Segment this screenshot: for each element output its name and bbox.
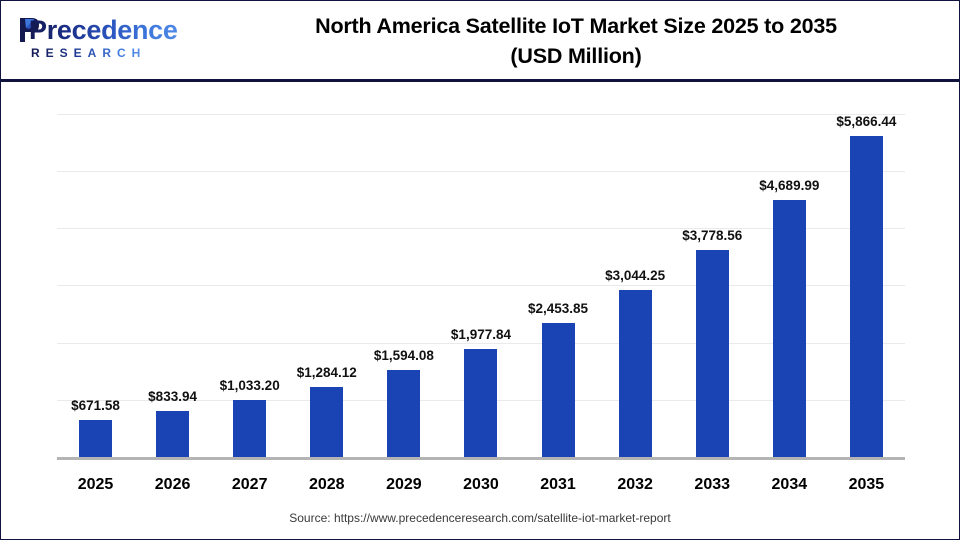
bar[interactable] <box>464 349 497 457</box>
bar-slot: $3,044.25 <box>597 101 674 457</box>
bar[interactable] <box>79 420 112 457</box>
bar-slot: $671.58 <box>57 101 134 457</box>
x-axis-label: 2033 <box>674 476 751 494</box>
bar-value-label: $3,778.56 <box>669 228 756 243</box>
x-axis-label: 2035 <box>828 476 905 494</box>
chart-page: Precedence RESEARCH North America Satell… <box>0 0 960 540</box>
x-axis-label: 2030 <box>442 476 519 494</box>
bar[interactable] <box>387 370 420 457</box>
plot-area: $671.58$833.94$1,033.20$1,284.12$1,594.0… <box>57 101 905 457</box>
bar[interactable] <box>233 400 266 457</box>
bar-slot: $1,284.12 <box>288 101 365 457</box>
bar[interactable] <box>156 411 189 457</box>
x-axis-label: 2025 <box>57 476 134 494</box>
bar-slot: $833.94 <box>134 101 211 457</box>
x-axis-label: 2027 <box>211 476 288 494</box>
bar[interactable] <box>619 290 652 457</box>
bar-slot: $1,033.20 <box>211 101 288 457</box>
bar-value-label: $5,866.44 <box>823 114 910 129</box>
x-axis-label: 2026 <box>134 476 211 494</box>
x-axis-label: 2028 <box>288 476 365 494</box>
bar-value-label: $1,977.84 <box>437 327 524 342</box>
bar-slot: $1,594.08 <box>365 101 442 457</box>
bar[interactable] <box>773 200 806 457</box>
page-title-line-1: North America Satellite IoT Market Size … <box>211 11 941 41</box>
bar[interactable] <box>696 250 729 457</box>
bar-value-label: $4,689.99 <box>746 178 833 193</box>
x-axis-label: 2034 <box>751 476 828 494</box>
precedence-research-logo: Precedence RESEARCH <box>17 15 197 67</box>
bar-slot: $2,453.85 <box>520 101 597 457</box>
bar-slot: $1,977.84 <box>442 101 519 457</box>
chart-header: Precedence RESEARCH North America Satell… <box>1 1 959 82</box>
bar[interactable] <box>310 387 343 457</box>
x-axis-label: 2032 <box>597 476 674 494</box>
logo-wordmark-text: Precedence <box>29 15 178 45</box>
bar-slot: $4,689.99 <box>751 101 828 457</box>
logo-wordmark-group: Precedence <box>17 15 197 45</box>
page-title: North America Satellite IoT Market Size … <box>211 11 941 71</box>
logo-subtext: RESEARCH <box>31 46 146 60</box>
bar[interactable] <box>542 323 575 457</box>
bar-value-label: $833.94 <box>129 389 216 404</box>
page-title-line-2: (USD Million) <box>211 41 941 71</box>
bar-chart: $671.58$833.94$1,033.20$1,284.12$1,594.0… <box>1 85 959 498</box>
bar-slot: $3,778.56 <box>674 101 751 457</box>
bar-value-label: $671.58 <box>52 398 139 413</box>
source-caption: Source: https://www.precedenceresearch.c… <box>1 511 959 525</box>
x-axis-label: 2029 <box>365 476 442 494</box>
bar-value-label: $1,033.20 <box>206 378 293 393</box>
bar-value-label: $2,453.85 <box>515 301 602 316</box>
x-axis-label: 2031 <box>520 476 597 494</box>
bar-value-label: $3,044.25 <box>592 268 679 283</box>
bar[interactable] <box>850 136 883 457</box>
bar-slot: $5,866.44 <box>828 101 905 457</box>
x-axis-line <box>57 457 905 460</box>
bar-value-label: $1,284.12 <box>283 365 370 380</box>
bar-value-label: $1,594.08 <box>360 348 447 363</box>
